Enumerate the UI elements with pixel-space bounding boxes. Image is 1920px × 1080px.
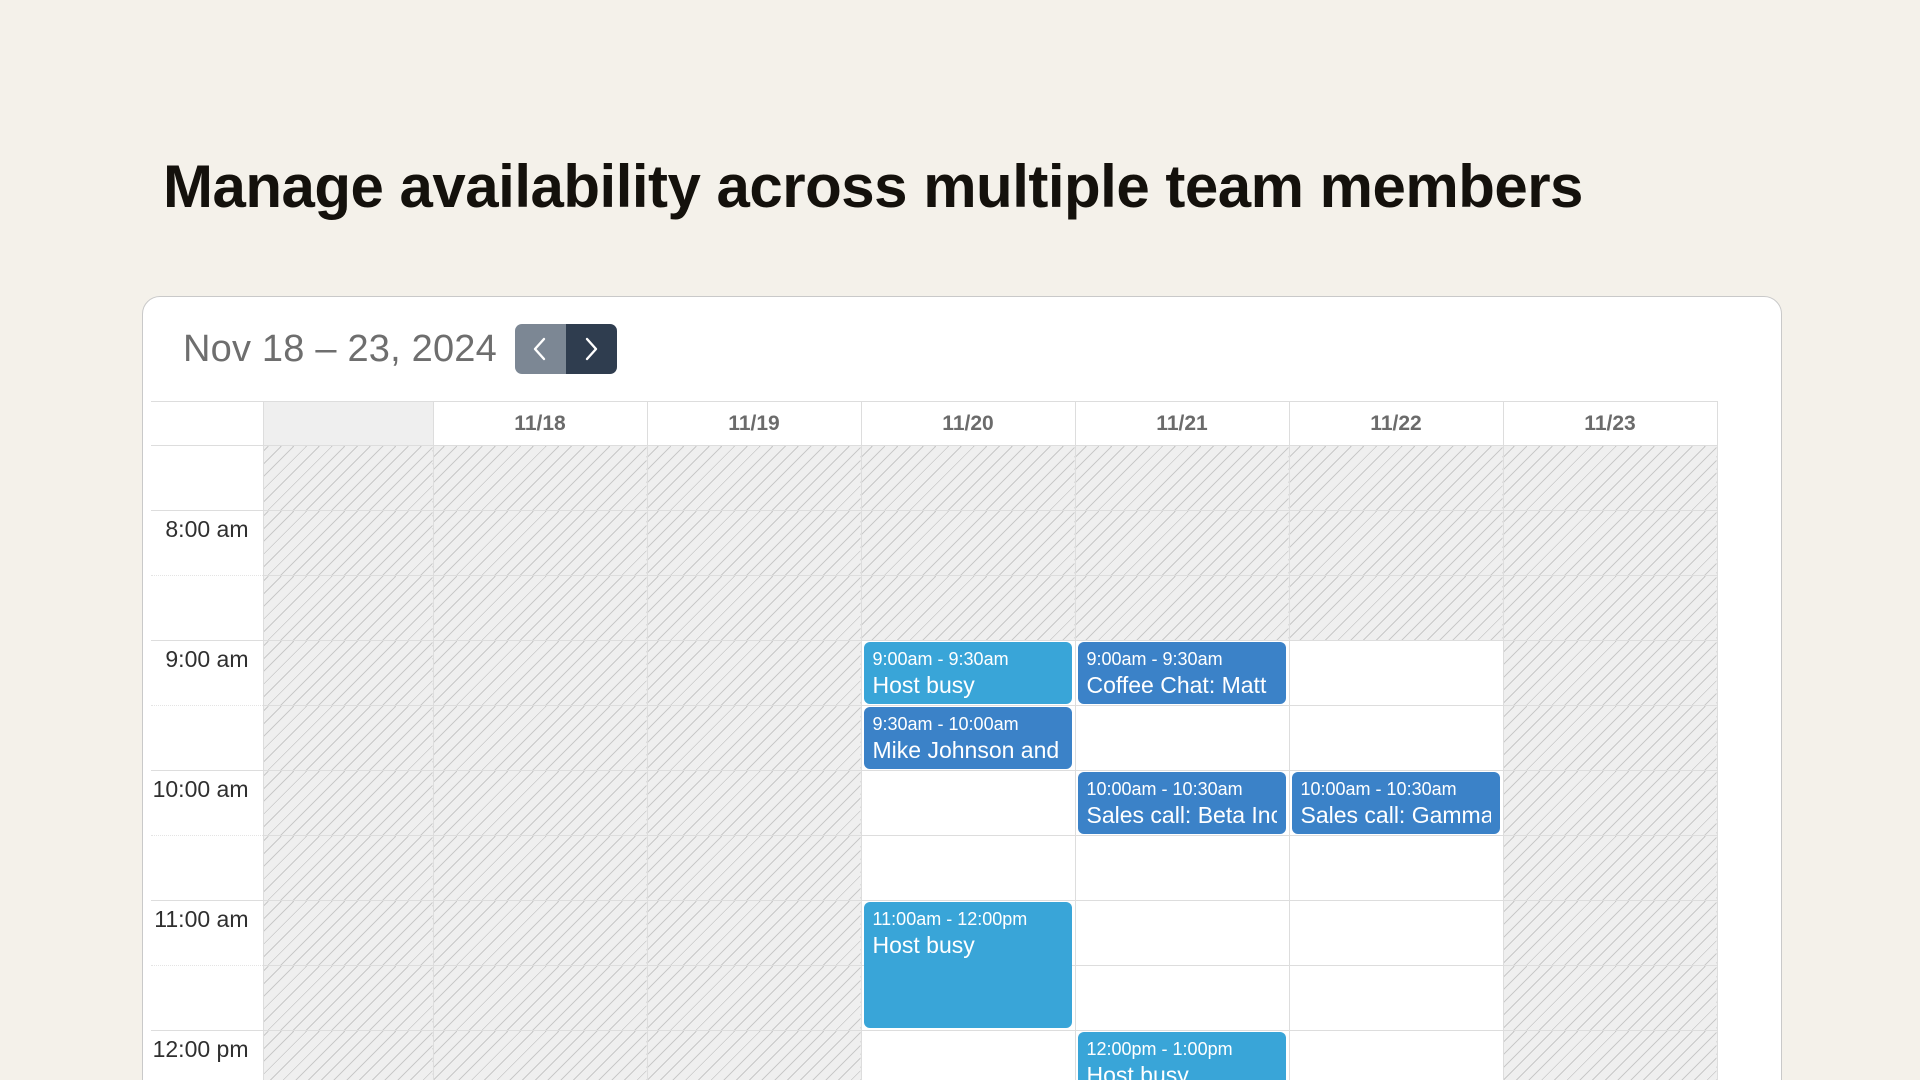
unavailable-slot-cell bbox=[1289, 511, 1503, 576]
unavailable-slot-cell bbox=[1503, 966, 1717, 1031]
available-slot-cell[interactable] bbox=[1289, 706, 1503, 771]
time-label-cell bbox=[151, 446, 263, 511]
event-time: 10:00am - 10:30am bbox=[1301, 778, 1491, 801]
event-time: 9:00am - 9:30am bbox=[873, 648, 1063, 671]
available-slot-cell[interactable] bbox=[1289, 901, 1503, 966]
next-week-button[interactable] bbox=[566, 324, 617, 374]
date-range-label: Nov 18 – 23, 2024 bbox=[183, 328, 497, 371]
gutter-cell bbox=[263, 836, 433, 901]
unavailable-slot-cell bbox=[433, 446, 647, 511]
unavailable-slot-cell bbox=[861, 576, 1075, 641]
available-slot-cell[interactable]: 10:00am - 10:30amSales call: Gamma bbox=[1289, 771, 1503, 836]
unavailable-slot-cell bbox=[1503, 836, 1717, 901]
unavailable-slot-cell bbox=[1503, 1031, 1717, 1080]
unavailable-slot-cell bbox=[433, 576, 647, 641]
chevron-right-icon bbox=[583, 336, 599, 362]
unavailable-slot-cell bbox=[433, 511, 647, 576]
time-label-cell bbox=[151, 706, 263, 771]
time-label: 12:00 pm bbox=[153, 1036, 249, 1062]
available-slot-cell[interactable]: 9:00am - 9:30amHost busy bbox=[861, 641, 1075, 706]
calendar-grid: 11/1811/1911/2011/2111/2211/23 8:00 am9:… bbox=[143, 401, 1781, 1080]
calendar-table: 11/1811/1911/2011/2111/2211/23 8:00 am9:… bbox=[151, 401, 1718, 1080]
unavailable-slot-cell bbox=[1075, 576, 1289, 641]
gutter-cell bbox=[263, 641, 433, 706]
calendar-row: 11:00 am11:00am - 12:00pmHost busy bbox=[151, 901, 1717, 966]
date-column-header-11-23: 11/23 bbox=[1503, 402, 1717, 446]
unavailable-slot-cell bbox=[1503, 511, 1717, 576]
event-time: 9:00am - 9:30am bbox=[1087, 648, 1277, 671]
time-label: 8:00 am bbox=[165, 516, 248, 542]
available-slot-cell[interactable] bbox=[1289, 641, 1503, 706]
event-time: 12:00pm - 1:00pm bbox=[1087, 1038, 1277, 1061]
gutter-cell bbox=[263, 1031, 433, 1080]
gutter-column-header bbox=[263, 402, 433, 446]
available-slot-cell[interactable] bbox=[1289, 836, 1503, 901]
calendar-body: 8:00 am9:00 am9:00am - 9:30amHost busy9:… bbox=[151, 446, 1717, 1080]
time-label-cell bbox=[151, 576, 263, 641]
unavailable-slot-cell bbox=[1503, 576, 1717, 641]
unavailable-slot-cell bbox=[433, 966, 647, 1031]
available-slot-cell[interactable] bbox=[1075, 836, 1289, 901]
time-label-cell: 9:00 am bbox=[151, 641, 263, 706]
event-time: 9:30am - 10:00am bbox=[873, 713, 1063, 736]
calendar-event[interactable]: 10:00am - 10:30amSales call: Beta Inc. bbox=[1078, 772, 1286, 834]
available-slot-cell[interactable] bbox=[1075, 706, 1289, 771]
unavailable-slot-cell bbox=[861, 511, 1075, 576]
gutter-cell bbox=[263, 446, 433, 511]
calendar-event[interactable]: 12:00pm - 1:00pmHost busy bbox=[1078, 1032, 1286, 1080]
date-column-header-11-21: 11/21 bbox=[1075, 402, 1289, 446]
time-label-cell: 12:00 pm bbox=[151, 1031, 263, 1080]
calendar-event[interactable]: 11:00am - 12:00pmHost busy bbox=[864, 902, 1072, 1028]
time-label: 10:00 am bbox=[153, 776, 249, 802]
available-slot-cell[interactable] bbox=[1075, 966, 1289, 1031]
calendar-event[interactable]: 9:00am - 9:30amCoffee Chat: Matt bbox=[1078, 642, 1286, 704]
unavailable-slot-cell bbox=[1503, 446, 1717, 511]
time-label: 9:00 am bbox=[165, 646, 248, 672]
unavailable-slot-cell bbox=[1075, 446, 1289, 511]
calendar-row: 9:00 am9:00am - 9:30amHost busy9:00am - … bbox=[151, 641, 1717, 706]
gutter-cell bbox=[263, 576, 433, 641]
unavailable-slot-cell bbox=[1289, 576, 1503, 641]
event-title: Sales call: Gamma bbox=[1301, 801, 1491, 830]
unavailable-slot-cell bbox=[1075, 511, 1289, 576]
calendar-toolbar: Nov 18 – 23, 2024 bbox=[143, 297, 1781, 401]
date-column-header-11-22: 11/22 bbox=[1289, 402, 1503, 446]
unavailable-slot-cell bbox=[647, 901, 861, 966]
gutter-cell bbox=[263, 706, 433, 771]
event-time: 11:00am - 12:00pm bbox=[873, 908, 1063, 931]
unavailable-slot-cell bbox=[647, 966, 861, 1031]
calendar-event[interactable]: 9:30am - 10:00amMike Johnson and bbox=[864, 707, 1072, 769]
event-time: 10:00am - 10:30am bbox=[1087, 778, 1277, 801]
gutter-cell bbox=[263, 966, 433, 1031]
available-slot-cell[interactable]: 12:00pm - 1:00pmHost busy bbox=[1075, 1031, 1289, 1080]
gutter-cell bbox=[263, 901, 433, 966]
available-slot-cell[interactable] bbox=[861, 1031, 1075, 1080]
time-label-cell: 10:00 am bbox=[151, 771, 263, 836]
time-column-header bbox=[151, 402, 263, 446]
calendar-row bbox=[151, 576, 1717, 641]
calendar-row bbox=[151, 446, 1717, 511]
unavailable-slot-cell bbox=[1289, 446, 1503, 511]
gutter-cell bbox=[263, 771, 433, 836]
calendar-event[interactable]: 10:00am - 10:30amSales call: Gamma bbox=[1292, 772, 1500, 834]
unavailable-slot-cell bbox=[647, 1031, 861, 1080]
previous-week-button[interactable] bbox=[515, 324, 566, 374]
available-slot-cell[interactable]: 10:00am - 10:30amSales call: Beta Inc. bbox=[1075, 771, 1289, 836]
calendar-row: 12:00 pm12:00pm - 1:00pmHost busy bbox=[151, 1031, 1717, 1080]
event-title: Host busy bbox=[873, 931, 1063, 960]
unavailable-slot-cell bbox=[1503, 771, 1717, 836]
page-root: Manage availability across multiple team… bbox=[0, 0, 1920, 1080]
unavailable-slot-cell bbox=[1503, 901, 1717, 966]
calendar-row bbox=[151, 836, 1717, 901]
date-column-header-11-20: 11/20 bbox=[861, 402, 1075, 446]
unavailable-slot-cell bbox=[433, 1031, 647, 1080]
event-title: Coffee Chat: Matt bbox=[1087, 671, 1277, 700]
calendar-event[interactable]: 9:00am - 9:30amHost busy bbox=[864, 642, 1072, 704]
event-title: Host busy bbox=[873, 671, 1063, 700]
calendar-row: 9:30am - 10:00amMike Johnson and bbox=[151, 706, 1717, 771]
date-column-header-11-19: 11/19 bbox=[647, 402, 861, 446]
available-slot-cell[interactable]: 11:00am - 12:00pmHost busy bbox=[861, 901, 1075, 966]
available-slot-cell[interactable]: 9:30am - 10:00amMike Johnson and bbox=[861, 706, 1075, 771]
unavailable-slot-cell bbox=[647, 836, 861, 901]
unavailable-slot-cell bbox=[433, 836, 647, 901]
available-slot-cell[interactable] bbox=[861, 771, 1075, 836]
available-slot-cell[interactable] bbox=[1289, 1031, 1503, 1080]
unavailable-slot-cell bbox=[433, 641, 647, 706]
time-label-cell: 8:00 am bbox=[151, 511, 263, 576]
available-slot-cell[interactable] bbox=[1075, 901, 1289, 966]
unavailable-slot-cell bbox=[647, 706, 861, 771]
time-label: 11:00 am bbox=[154, 906, 248, 932]
date-column-header-11-18: 11/18 bbox=[433, 402, 647, 446]
time-label-cell: 11:00 am bbox=[151, 901, 263, 966]
page-title: Manage availability across multiple team… bbox=[163, 152, 1583, 221]
event-title: Mike Johnson and bbox=[873, 736, 1063, 765]
time-label-cell bbox=[151, 966, 263, 1031]
date-nav-group bbox=[515, 324, 617, 374]
unavailable-slot-cell bbox=[647, 771, 861, 836]
time-label-cell bbox=[151, 836, 263, 901]
event-title: Sales call: Beta Inc. bbox=[1087, 801, 1277, 830]
gutter-cell bbox=[263, 511, 433, 576]
available-slot-cell[interactable] bbox=[1289, 966, 1503, 1031]
event-title: Host busy bbox=[1087, 1061, 1277, 1080]
unavailable-slot-cell bbox=[433, 901, 647, 966]
unavailable-slot-cell bbox=[647, 576, 861, 641]
chevron-left-icon bbox=[532, 336, 548, 362]
unavailable-slot-cell bbox=[1503, 706, 1717, 771]
unavailable-slot-cell bbox=[647, 446, 861, 511]
unavailable-slot-cell bbox=[647, 511, 861, 576]
calendar-header-row: 11/1811/1911/2011/2111/2211/23 bbox=[151, 402, 1717, 446]
unavailable-slot-cell bbox=[433, 706, 647, 771]
calendar-row: 8:00 am bbox=[151, 511, 1717, 576]
calendar-row: 10:00 am10:00am - 10:30amSales call: Bet… bbox=[151, 771, 1717, 836]
unavailable-slot-cell bbox=[1503, 641, 1717, 706]
available-slot-cell[interactable] bbox=[861, 836, 1075, 901]
unavailable-slot-cell bbox=[861, 446, 1075, 511]
unavailable-slot-cell bbox=[647, 641, 861, 706]
available-slot-cell[interactable]: 9:00am - 9:30amCoffee Chat: Matt bbox=[1075, 641, 1289, 706]
availability-calendar-card: Nov 18 – 23, 2024 bbox=[142, 296, 1782, 1080]
unavailable-slot-cell bbox=[433, 771, 647, 836]
